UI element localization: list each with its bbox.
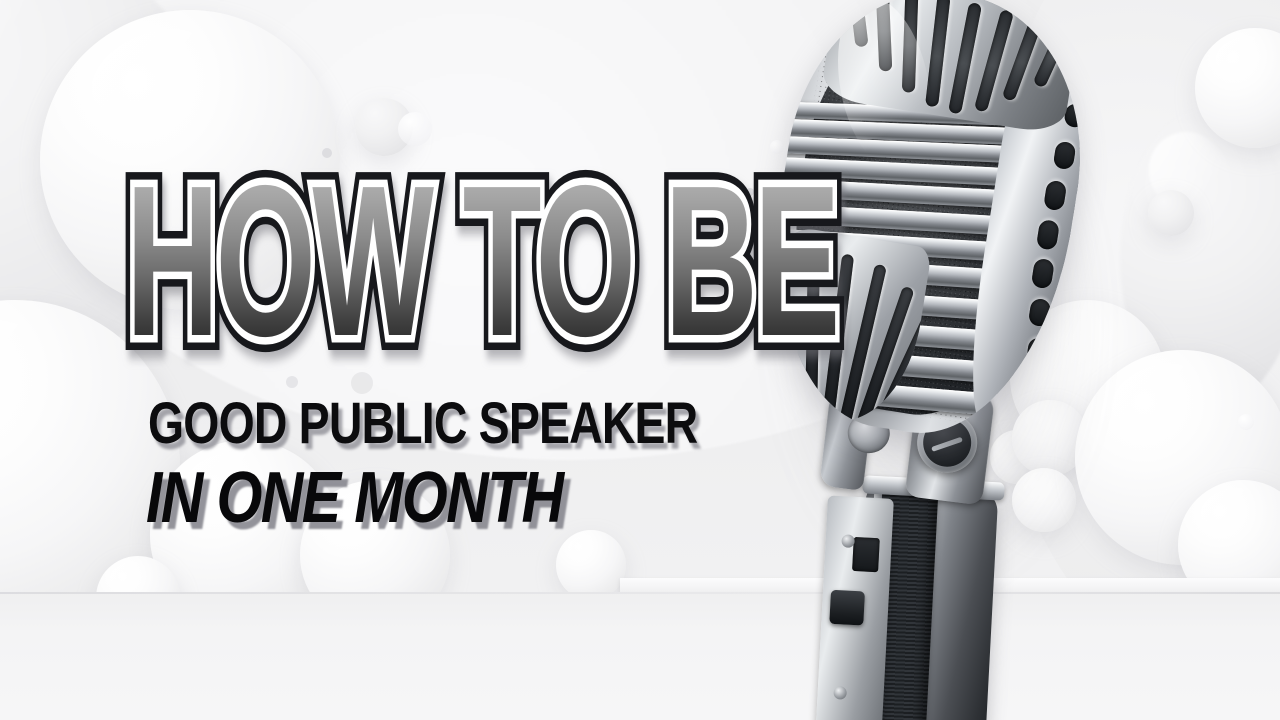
side-band-slot <box>1028 297 1052 327</box>
lower-vent-slot <box>805 256 820 428</box>
side-band-slot <box>1052 141 1076 171</box>
thumbnail-canvas: HOW TO BE HOW TO BE HOW TO BE GOOD PUBLI… <box>0 0 1280 720</box>
crown-vent-slot <box>925 0 951 108</box>
bubble-speck-4 <box>351 372 373 394</box>
bubble-speck-2 <box>322 148 332 158</box>
side-band-slot <box>1036 219 1060 251</box>
crown-vent-slot <box>847 0 868 47</box>
bubble-speck-3 <box>286 376 298 388</box>
side-band-slot <box>1026 337 1049 363</box>
bubble-highlight-3 <box>1238 414 1254 430</box>
crown-vent-slot <box>902 0 919 92</box>
side-band-slot <box>1043 180 1067 212</box>
crown-vent-slot <box>876 0 893 71</box>
microphone-lower-vent-fan <box>753 225 932 431</box>
microphone-side-switch <box>829 590 865 626</box>
microphone-graphic <box>742 0 1142 720</box>
sphere-left-upper <box>40 10 340 310</box>
sphere-right-tiny-upper <box>1148 190 1194 236</box>
side-band-slot <box>1031 258 1055 290</box>
sphere-center-floor-small <box>556 530 626 600</box>
bubble-highlight-1 <box>398 112 432 146</box>
